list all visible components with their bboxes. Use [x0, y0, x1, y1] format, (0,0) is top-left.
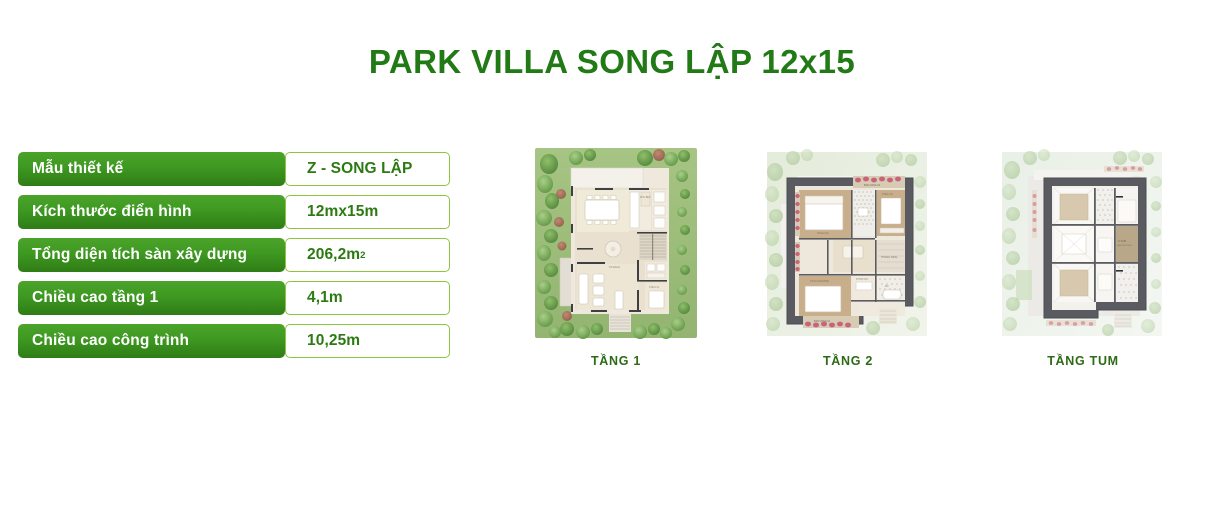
table-row: Kích thước điển hình 12mx15m	[18, 195, 450, 229]
spec-label: Kích thước điển hình	[18, 195, 285, 229]
document-page: PARK VILLA SONG LẬP 12x15 Mẫu thiết kế Z…	[0, 0, 1224, 524]
spec-value-text: 4,1m	[307, 289, 343, 307]
svg-text:P.NGU 02: P.NGU 02	[817, 231, 829, 235]
floor-plan-attic-caption: TẦNG TUM	[998, 354, 1168, 368]
specification-table: Mẫu thiết kế Z - SONG LẬP Kích thước điể…	[18, 152, 450, 367]
floor-plan-ground: KHU BEP	[533, 146, 699, 376]
svg-text:KHU BEP: KHU BEP	[640, 196, 651, 199]
floor-plan-second-caption: TẦNG 2	[763, 354, 933, 368]
spec-label: Chiều cao tầng 1	[18, 281, 285, 315]
floor-plan-second: P.NGU 02 P.NGU 03	[763, 146, 933, 376]
spec-label: Chiều cao công trình	[18, 324, 285, 358]
floor-plan-ground-caption: TẦNG 1	[533, 354, 699, 368]
spec-value-text: 206,2m	[307, 246, 360, 264]
svg-text:BAN CONG 01: BAN CONG 01	[814, 320, 831, 323]
floor-plan-attic: S.TUM SAN THUONG	[998, 146, 1168, 376]
spec-label: Tổng diện tích sàn xây dựng	[18, 238, 285, 272]
table-row: Mẫu thiết kế Z - SONG LẬP	[18, 152, 450, 186]
svg-text:P.NGU 03: P.NGU 03	[882, 193, 893, 196]
floor-plan-second-image: P.NGU 02 P.NGU 03	[763, 146, 933, 340]
svg-text:S.TUM: S.TUM	[1118, 239, 1126, 243]
spec-value: 12mx15m	[285, 195, 450, 229]
svg-text:THONG TANG: THONG TANG	[881, 256, 897, 259]
page-title: PARK VILLA SONG LẬP 12x15	[0, 43, 1224, 81]
spec-value-text: 12mx15m	[307, 203, 378, 221]
svg-text:BAN CONG 02: BAN CONG 02	[864, 184, 881, 187]
spec-value: 206,2m2	[285, 238, 450, 272]
svg-text:P.KHACH: P.KHACH	[609, 265, 620, 269]
svg-text:SAN THUONG: SAN THUONG	[1117, 244, 1132, 247]
table-row: Chiều cao tầng 1 4,1m	[18, 281, 450, 315]
table-row: Chiều cao công trình 10,25m	[18, 324, 450, 358]
spec-value-text: Z - SONG LẬP	[307, 160, 412, 178]
spec-label: Mẫu thiết kế	[18, 152, 285, 186]
floor-plan-ground-image: KHU BEP	[533, 146, 699, 340]
table-row: Tổng diện tích sàn xây dựng 206,2m2	[18, 238, 450, 272]
svg-text:P.THAY DO: P.THAY DO	[856, 278, 868, 281]
svg-text:P.NGU MASTER: P.NGU MASTER	[810, 280, 829, 283]
spec-value-text: 10,25m	[307, 332, 360, 350]
svg-text:WC: WC	[885, 286, 889, 288]
spec-value-unit: 2	[360, 250, 365, 261]
spec-value: Z - SONG LẬP	[285, 152, 450, 186]
spec-value: 4,1m	[285, 281, 450, 315]
floor-plan-attic-image: S.TUM SAN THUONG	[998, 146, 1168, 340]
spec-value: 10,25m	[285, 324, 450, 358]
svg-text:P.NGU 01: P.NGU 01	[649, 287, 660, 289]
